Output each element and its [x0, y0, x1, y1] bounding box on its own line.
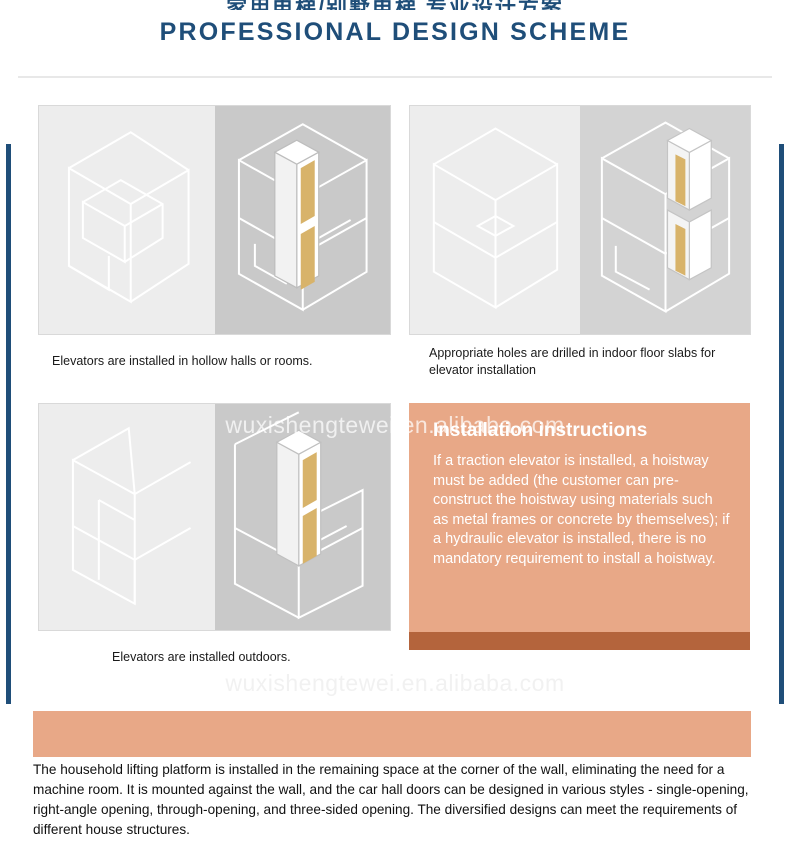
page-title-cn: 家用电梯/别墅电梯 专业设计方案 — [0, 0, 790, 10]
panel2-view-left — [410, 106, 580, 334]
page-header: 家用电梯/别墅电梯 专业设计方案 PROFESSIONAL DESIGN SCH… — [0, 0, 790, 78]
panel3-view-left — [39, 404, 215, 630]
outdoor-wall-wireframe-icon — [39, 404, 215, 630]
instructions-body: If a traction elevator is installed, a h… — [409, 442, 750, 569]
floor-slab-hole-icon — [410, 106, 580, 334]
caption-outdoors: Elevators are installed outdoors. — [112, 649, 412, 666]
instructions-footer-bar — [409, 632, 750, 650]
instructions-heading: Installation instructions — [409, 403, 750, 442]
panel2-view-right — [580, 106, 750, 334]
outdoor-elevator-icon — [215, 404, 391, 630]
header-divider — [18, 76, 772, 78]
panel1-view-left — [39, 106, 215, 334]
panel3-view-right — [215, 404, 391, 630]
installation-instructions-card: Installation instructions If a traction … — [409, 403, 750, 650]
illustration-panel-drilled-holes — [409, 105, 751, 335]
illustration-panel-outdoors — [38, 403, 391, 631]
two-floor-elevator-icon — [580, 106, 750, 334]
left-accent-bar — [6, 144, 11, 704]
right-accent-bar — [779, 144, 784, 704]
caption-hollow-halls: Elevators are installed in hollow halls … — [52, 353, 382, 370]
watermark-text-secondary: wuxishengtewei.en.alibaba.com — [0, 670, 790, 697]
room-corner-wireframe-icon — [39, 106, 215, 334]
bottom-description: The household lifting platform is instal… — [33, 760, 753, 840]
room-with-elevator-icon — [215, 106, 391, 334]
panel1-view-right — [215, 106, 391, 334]
page-title-en: PROFESSIONAL DESIGN SCHEME — [0, 18, 790, 47]
caption-drilled-holes: Appropriate holes are drilled in indoor … — [429, 345, 729, 379]
illustration-panel-hollow-halls — [38, 105, 391, 335]
bottom-accent-strip — [33, 711, 751, 757]
